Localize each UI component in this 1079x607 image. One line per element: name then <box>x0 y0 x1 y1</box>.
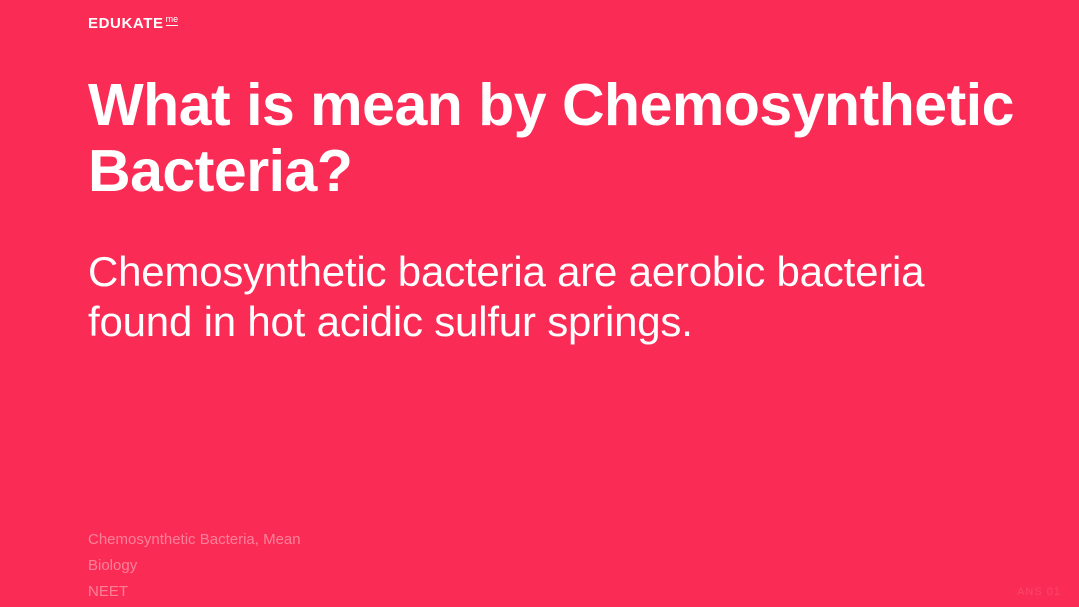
brand-logo-word: EDUKATE <box>88 16 164 31</box>
slide-body-text: Chemosynthetic bacteria are aerobic bact… <box>88 247 988 347</box>
brand-logo[interactable]: EDUKATE me <box>88 16 178 31</box>
footer-line-topic: Chemosynthetic Bacteria, Mean <box>88 527 508 553</box>
footer-line-exam: NEET <box>88 579 508 605</box>
slide-title: What is mean by Chemosynthetic Bacteria? <box>88 72 1018 204</box>
footer-metadata: Chemosynthetic Bacteria, Mean Biology NE… <box>88 527 508 605</box>
brand-logo-superscript: me <box>166 15 179 26</box>
corner-watermark: ANS 01 <box>1017 586 1061 598</box>
footer-line-subject: Biology <box>88 553 508 579</box>
slide-canvas: EDUKATE me What is mean by Chemosyntheti… <box>0 0 1079 607</box>
